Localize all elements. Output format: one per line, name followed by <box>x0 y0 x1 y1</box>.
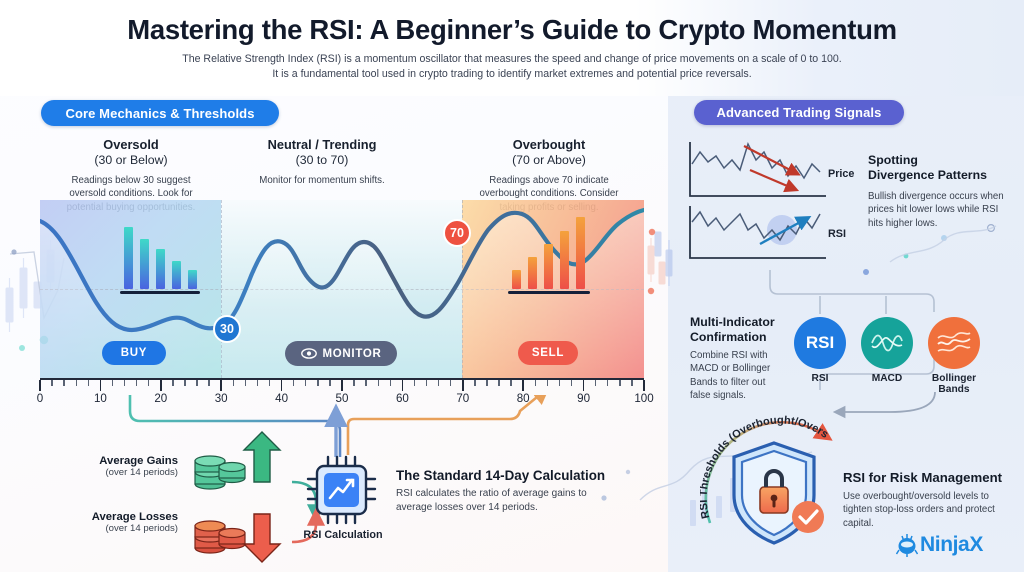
arrow-down-icon <box>244 514 280 562</box>
action-label: SELL <box>532 347 564 359</box>
axis-tick-minor <box>329 380 330 386</box>
axis-tick-minor <box>595 380 596 386</box>
axis-tick-minor <box>547 380 548 386</box>
axis-tick-minor <box>293 380 294 386</box>
axis-tick-major <box>100 380 102 391</box>
axis-tick-major <box>160 380 162 391</box>
calculation-description: RSI calculates the ratio of average gain… <box>396 487 611 515</box>
indicator-circle-bollinger[interactable] <box>928 317 980 369</box>
divergence-mini-charts <box>686 138 836 266</box>
label-title: Average Gains <box>86 455 178 467</box>
oversold-bar-group <box>120 227 200 294</box>
macd-wave-icon <box>870 331 904 355</box>
zone-range: (30 to 70) <box>226 153 418 167</box>
page-subtitle: The Relative Strength Index (RSI) is a m… <box>132 52 892 82</box>
divergence-description: Bullish divergence occurs when prices hi… <box>868 190 1014 230</box>
coin-stack-gains-icon <box>195 456 245 489</box>
axis-tick-minor <box>450 380 451 386</box>
axis-tick-major <box>220 380 222 391</box>
zone-title: Overbought <box>456 137 642 152</box>
average-losses-label: Average Losses (over 14 periods) <box>86 511 178 534</box>
axis-tick-minor <box>257 380 258 386</box>
axis-tick-minor <box>631 380 632 386</box>
axis-tick-major <box>522 380 524 391</box>
axis-tick-minor <box>414 380 415 386</box>
risk-shield-graphic: RSI Thresholds (Overbought/Oversold) <box>700 405 860 550</box>
axis-tick-minor <box>486 380 487 386</box>
axis-tick-major <box>462 380 464 391</box>
divergence-title-line-1: Spotting <box>868 153 1018 168</box>
indicator-glyph-rsi: RSI <box>806 333 834 353</box>
axis-tick-minor <box>353 380 354 386</box>
axis-tick-minor <box>233 380 234 386</box>
axis-tick-minor <box>559 380 560 386</box>
action-label: BUY <box>121 347 147 359</box>
indicator-caption-macd: MACD <box>872 373 903 384</box>
axis-tick-minor <box>571 380 572 386</box>
axis-tick-minor <box>76 380 77 386</box>
axis-tick-major <box>643 380 645 391</box>
axis-tick-major <box>341 380 343 391</box>
label-sub: (over 14 periods) <box>86 467 178 478</box>
risk-description: Use overbought/oversold levels to tighte… <box>843 490 1005 530</box>
label-title: Average Losses <box>86 511 178 523</box>
axis-tick-minor <box>535 380 536 386</box>
axis-tick-minor <box>607 380 608 386</box>
axis-tick-minor <box>63 380 64 386</box>
action-pill-monitor[interactable]: MONITOR <box>285 341 397 366</box>
axis-tick-minor <box>88 380 89 386</box>
axis-tick-minor <box>378 380 379 386</box>
zone-title: Oversold <box>40 137 222 152</box>
axis-tick-minor <box>196 380 197 386</box>
axis-tick-minor <box>510 380 511 386</box>
axis-tick-minor <box>148 380 149 386</box>
zone-title: Neutral / Trending <box>226 137 418 152</box>
axis-tick-minor <box>619 380 620 386</box>
axis-tick-major <box>402 380 404 391</box>
subtitle-line-2: It is a fundamental tool used in crypto … <box>132 67 892 82</box>
indicator-circle-macd[interactable] <box>861 317 913 369</box>
brand-name: NinjaX <box>920 533 983 557</box>
divergence-title-line-2: Divergence Patterns <box>868 168 1018 183</box>
zone-heading-neutral: Neutral / Trending (30 to 70) Monitor fo… <box>226 137 418 187</box>
action-pill-sell[interactable]: SELL <box>518 341 578 365</box>
axis-tick-minor <box>317 380 318 386</box>
divergence-title: Spotting Divergence Patterns <box>868 153 1018 184</box>
axis-tick-major <box>39 380 41 391</box>
zone-range: (70 or Above) <box>456 153 642 167</box>
action-pill-buy[interactable]: BUY <box>102 341 166 365</box>
price-axis-label: Price <box>828 168 854 180</box>
indicator-circle-rsi[interactable]: RSI <box>794 317 846 369</box>
axis-tick-minor <box>365 380 366 386</box>
rsi-axis-label: RSI <box>828 228 846 240</box>
axis-tick-major <box>583 380 585 391</box>
bollinger-bands-icon <box>936 330 972 356</box>
zone-range: (30 or Below) <box>40 153 222 167</box>
axis-tick-minor <box>112 380 113 386</box>
price-mini-chart <box>690 142 826 196</box>
calculation-title: The Standard 14-Day Calculation <box>396 468 605 483</box>
arrow-up-icon <box>244 432 280 482</box>
axis-tick-minor <box>390 380 391 386</box>
coin-stack-losses-icon <box>195 521 245 553</box>
label-sub: (over 14 periods) <box>86 523 178 534</box>
indicator-caption-bollinger: Bollinger Bands <box>919 373 989 395</box>
zone-description: Monitor for momentum shifts. <box>226 174 418 187</box>
axis-tick-minor <box>51 380 52 386</box>
axis-tick-minor <box>269 380 270 386</box>
axis-tick-minor <box>426 380 427 386</box>
infographic-canvas: Mastering the RSI: A Beginner’s Guide to… <box>0 0 1024 572</box>
chip-caption: RSI Calculation <box>290 529 396 541</box>
page-title: Mastering the RSI: A Beginner’s Guide to… <box>0 14 1024 46</box>
risk-title: RSI for Risk Management <box>843 470 1023 487</box>
axis-tick-minor <box>184 380 185 386</box>
axis-tick-minor <box>438 380 439 386</box>
axis-tick-minor <box>245 380 246 386</box>
ninja-mask-icon <box>896 533 918 557</box>
section-badge-core-mechanics: Core Mechanics & Thresholds <box>41 100 279 126</box>
rsi-mini-chart <box>690 206 826 258</box>
eye-icon <box>301 348 317 359</box>
axis-tick-minor <box>124 380 125 386</box>
indicator-caption-rsi: RSI <box>812 373 829 384</box>
threshold-badge-70: 70 <box>443 219 471 247</box>
brand-logo: NinjaX <box>896 533 983 557</box>
axis-tick-minor <box>136 380 137 386</box>
axis-tick-minor <box>305 380 306 386</box>
axis-tick-minor <box>474 380 475 386</box>
axis-tick-major <box>281 380 283 391</box>
average-gains-label: Average Gains (over 14 periods) <box>86 455 178 478</box>
axis-tick-minor <box>208 380 209 386</box>
threshold-badge-30: 30 <box>213 315 241 343</box>
axis-tick-minor <box>498 380 499 386</box>
rsi-oscillator-chart: 30 70 BUY MONITOR SELL <box>40 200 644 378</box>
action-label: MONITOR <box>323 348 382 360</box>
multi-indicator-description: Combine RSI with MACD or Bollinger Bands… <box>690 349 786 403</box>
section-badge-advanced-signals: Advanced Trading Signals <box>694 100 904 125</box>
check-badge-icon <box>792 501 824 533</box>
subtitle-line-1: The Relative Strength Index (RSI) is a m… <box>132 52 892 67</box>
cpu-chip-icon <box>306 455 380 525</box>
axis-tick-minor <box>172 380 173 386</box>
